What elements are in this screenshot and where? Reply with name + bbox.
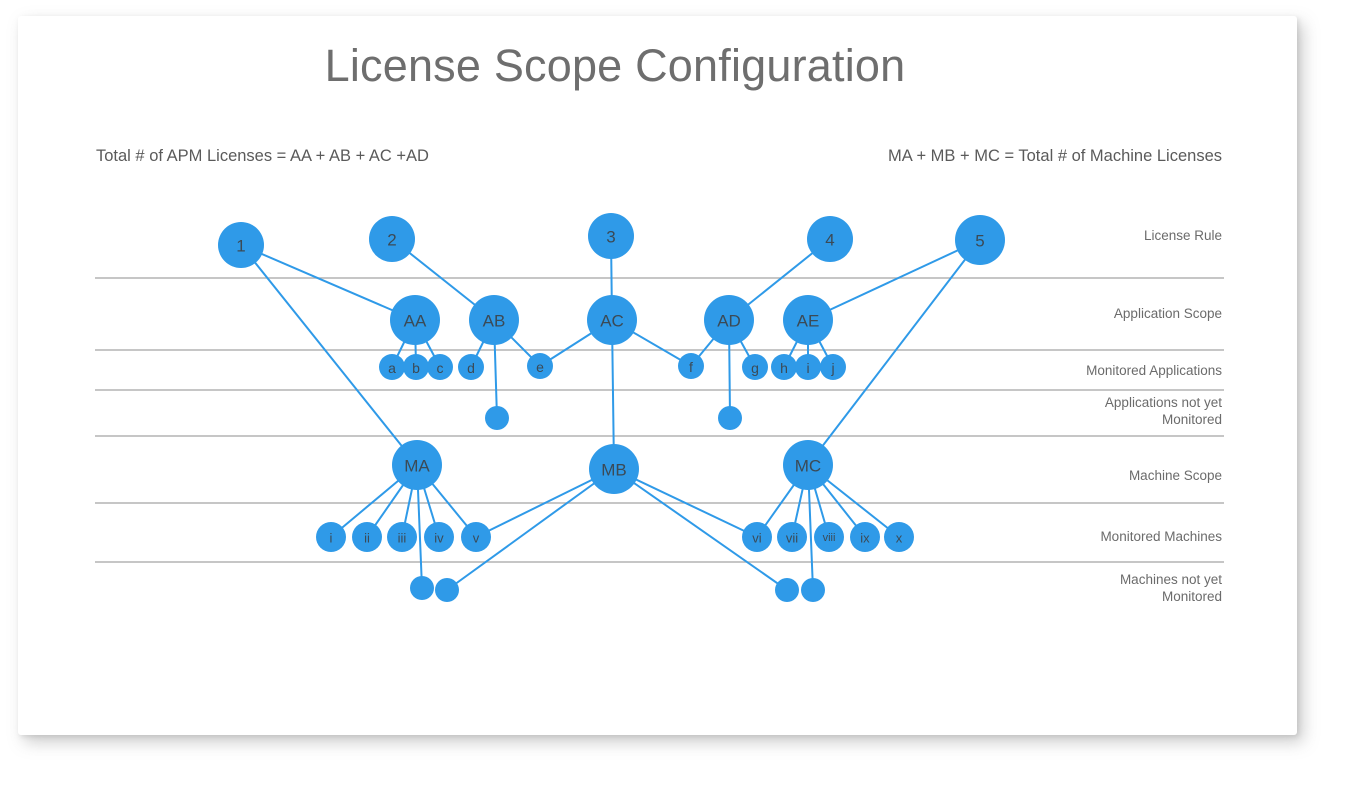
node-a[interactable]: a (379, 354, 405, 380)
node-label-m10: x (896, 531, 903, 546)
node-f[interactable]: f (678, 353, 704, 379)
node-label-m7: vii (786, 531, 798, 546)
node-m2[interactable]: ii (352, 522, 382, 552)
node-label-a: a (388, 360, 396, 376)
node-label-AE: AE (797, 312, 820, 331)
node-label-m1: i (330, 531, 333, 546)
node-label-AD: AD (717, 312, 741, 331)
node-r1[interactable]: 1 (218, 222, 264, 268)
node-ua1[interactable] (485, 406, 509, 430)
edge-r5-to-MC (808, 240, 980, 465)
node-j[interactable]: j (820, 354, 846, 380)
node-circle-ua2[interactable] (718, 406, 742, 430)
node-MC[interactable]: MC (783, 440, 833, 490)
node-r3[interactable]: 3 (588, 213, 634, 259)
node-label-r2: 2 (387, 231, 396, 250)
node-m6[interactable]: vi (742, 522, 772, 552)
node-MA[interactable]: MA (392, 440, 442, 490)
node-b[interactable]: b (403, 354, 429, 380)
diagram-canvas: License Scope Configuration Total # of A… (0, 0, 1345, 785)
node-c[interactable]: c (427, 354, 453, 380)
node-label-MB: MB (601, 461, 627, 480)
node-AE[interactable]: AE (783, 295, 833, 345)
node-m9[interactable]: ix (850, 522, 880, 552)
node-m4[interactable]: iv (424, 522, 454, 552)
node-m3[interactable]: iii (387, 522, 417, 552)
divider-lines (95, 278, 1224, 562)
node-label-i_a: i (806, 360, 809, 376)
node-r5[interactable]: 5 (955, 215, 1005, 265)
node-label-g: g (751, 360, 759, 376)
node-um2[interactable] (435, 578, 459, 602)
node-label-m9: ix (860, 531, 870, 546)
node-label-m8: viii (823, 532, 836, 544)
node-label-f: f (689, 359, 693, 375)
node-circle-um3[interactable] (775, 578, 799, 602)
node-label-m6: vi (752, 531, 762, 546)
license-scope-graph: 12345AAABACADAEabcdefghijMAMBMCiiiiiiivv… (0, 0, 1345, 785)
node-m7[interactable]: vii (777, 522, 807, 552)
node-d[interactable]: d (458, 354, 484, 380)
node-um1[interactable] (410, 576, 434, 600)
node-MB[interactable]: MB (589, 444, 639, 494)
node-circle-um2[interactable] (435, 578, 459, 602)
node-label-r5: 5 (975, 232, 984, 251)
node-label-AA: AA (404, 312, 427, 331)
node-circle-um1[interactable] (410, 576, 434, 600)
node-label-r3: 3 (606, 228, 615, 247)
node-label-m3: iii (398, 531, 407, 546)
node-label-AB: AB (483, 312, 506, 331)
node-label-c: c (437, 360, 444, 376)
node-label-d: d (467, 360, 475, 376)
node-m8[interactable]: viii (814, 522, 844, 552)
node-label-h: h (780, 360, 788, 376)
node-AC[interactable]: AC (587, 295, 637, 345)
node-label-j: j (830, 360, 834, 376)
node-label-m4: iv (434, 531, 444, 546)
node-label-m2: ii (364, 531, 370, 546)
node-label-MA: MA (404, 457, 430, 476)
node-m10[interactable]: x (884, 522, 914, 552)
node-i_a[interactable]: i (795, 354, 821, 380)
node-AA[interactable]: AA (390, 295, 440, 345)
node-h[interactable]: h (771, 354, 797, 380)
node-g[interactable]: g (742, 354, 768, 380)
node-label-m5: v (473, 531, 480, 546)
node-e[interactable]: e (527, 353, 553, 379)
node-m5[interactable]: v (461, 522, 491, 552)
node-circle-um4[interactable] (801, 578, 825, 602)
node-AB[interactable]: AB (469, 295, 519, 345)
node-um4[interactable] (801, 578, 825, 602)
node-um3[interactable] (775, 578, 799, 602)
node-AD[interactable]: AD (704, 295, 754, 345)
node-label-AC: AC (600, 312, 624, 331)
node-label-e: e (536, 359, 544, 375)
node-circle-ua1[interactable] (485, 406, 509, 430)
node-r2[interactable]: 2 (369, 216, 415, 262)
node-r4[interactable]: 4 (807, 216, 853, 262)
node-m1[interactable]: i (316, 522, 346, 552)
node-label-r4: 4 (825, 231, 834, 250)
node-label-r1: 1 (236, 237, 245, 256)
node-label-b: b (412, 360, 420, 376)
node-label-MC: MC (795, 457, 821, 476)
node-ua2[interactable] (718, 406, 742, 430)
